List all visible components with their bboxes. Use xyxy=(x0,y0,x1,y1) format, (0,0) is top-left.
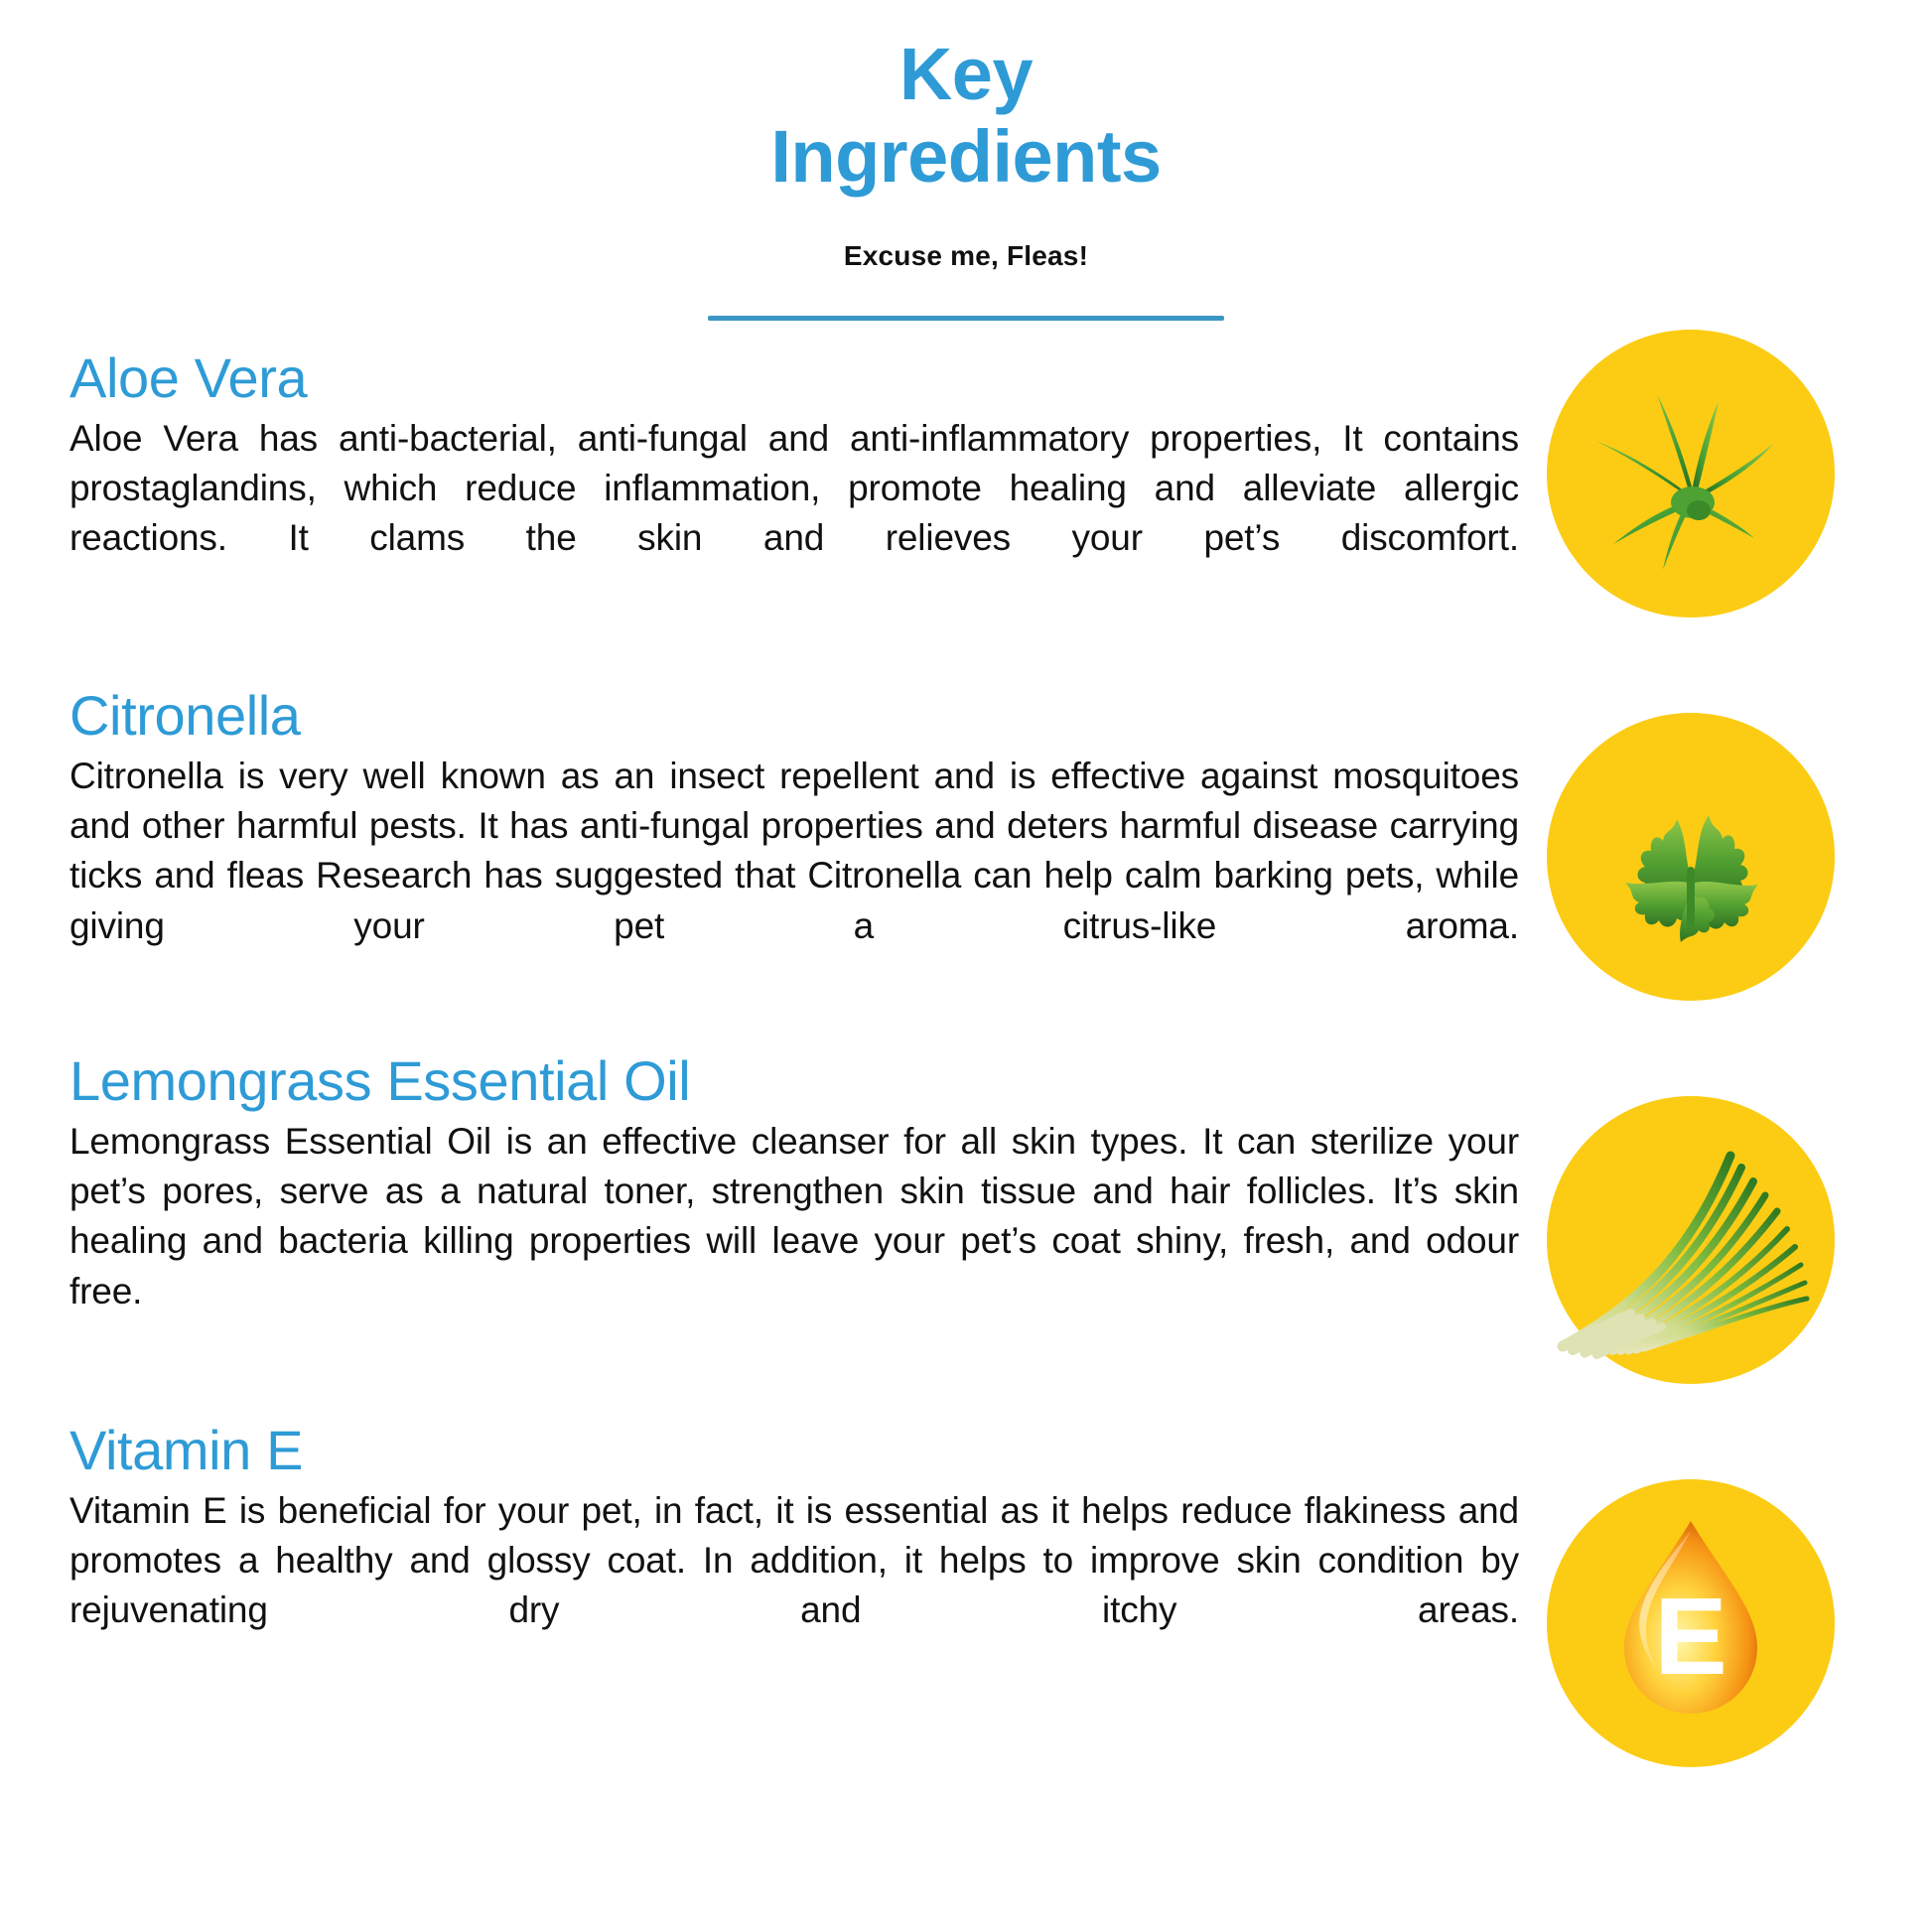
page-title-line-2: Ingredients xyxy=(708,116,1224,199)
ingredient-body-aloe-vera: Aloe Vera has anti-bacterial, anti-funga… xyxy=(69,414,1519,614)
ingredient-heading-citronella: Citronella xyxy=(69,687,1519,746)
ingredient-section-citronella: Citronella Citronella is very well known… xyxy=(0,687,1519,1001)
ingredient-section-aloe-vera: Aloe Vera Aloe Vera has anti-bacterial, … xyxy=(0,349,1519,614)
ingredient-body-citronella: Citronella is very well known as an inse… xyxy=(69,752,1519,1002)
page-subtitle: Excuse me, Fleas! xyxy=(0,240,1932,272)
lemongrass-bundle-icon xyxy=(1547,1096,1835,1384)
ingredient-badge-citronella xyxy=(1547,713,1835,1001)
ingredient-text-block: Lemongrass Essential Oil Lemongrass Esse… xyxy=(69,1052,1519,1366)
header-divider xyxy=(708,316,1224,321)
ingredient-body-lemongrass-essential-oil: Lemongrass Essential Oil is an effective… xyxy=(69,1117,1519,1367)
page-title: Key Ingredients xyxy=(708,34,1224,199)
aloe-vera-plant-icon xyxy=(1547,330,1835,618)
ingredient-text-block: Citronella Citronella is very well known… xyxy=(69,687,1519,1001)
ingredient-badge-lemongrass-essential-oil xyxy=(1547,1096,1835,1384)
ingredient-badge-vitamin-e: E xyxy=(1547,1479,1835,1767)
ingredient-heading-aloe-vera: Aloe Vera xyxy=(69,349,1519,408)
ingredient-section-lemongrass-essential-oil: Lemongrass Essential Oil Lemongrass Esse… xyxy=(0,1052,1519,1366)
page-title-line-1: Key xyxy=(708,34,1224,116)
droplet-letter: E xyxy=(1654,1576,1726,1698)
vitamin-e-droplet-icon: E xyxy=(1547,1479,1835,1767)
ingredient-text-block: Vitamin E Vitamin E is beneficial for yo… xyxy=(69,1422,1519,1686)
citronella-leaf-icon xyxy=(1547,713,1835,1001)
ingredient-heading-vitamin-e: Vitamin E xyxy=(69,1422,1519,1480)
ingredient-badge-aloe-vera xyxy=(1547,330,1835,618)
ingredient-heading-lemongrass-essential-oil: Lemongrass Essential Oil xyxy=(69,1052,1519,1111)
ingredient-text-block: Aloe Vera Aloe Vera has anti-bacterial, … xyxy=(69,349,1519,614)
ingredient-section-vitamin-e: Vitamin E Vitamin E is beneficial for yo… xyxy=(0,1422,1519,1686)
page-header: Key Ingredients Excuse me, Fleas! xyxy=(0,0,1932,321)
ingredient-body-vitamin-e: Vitamin E is beneficial for your pet, in… xyxy=(69,1486,1519,1686)
